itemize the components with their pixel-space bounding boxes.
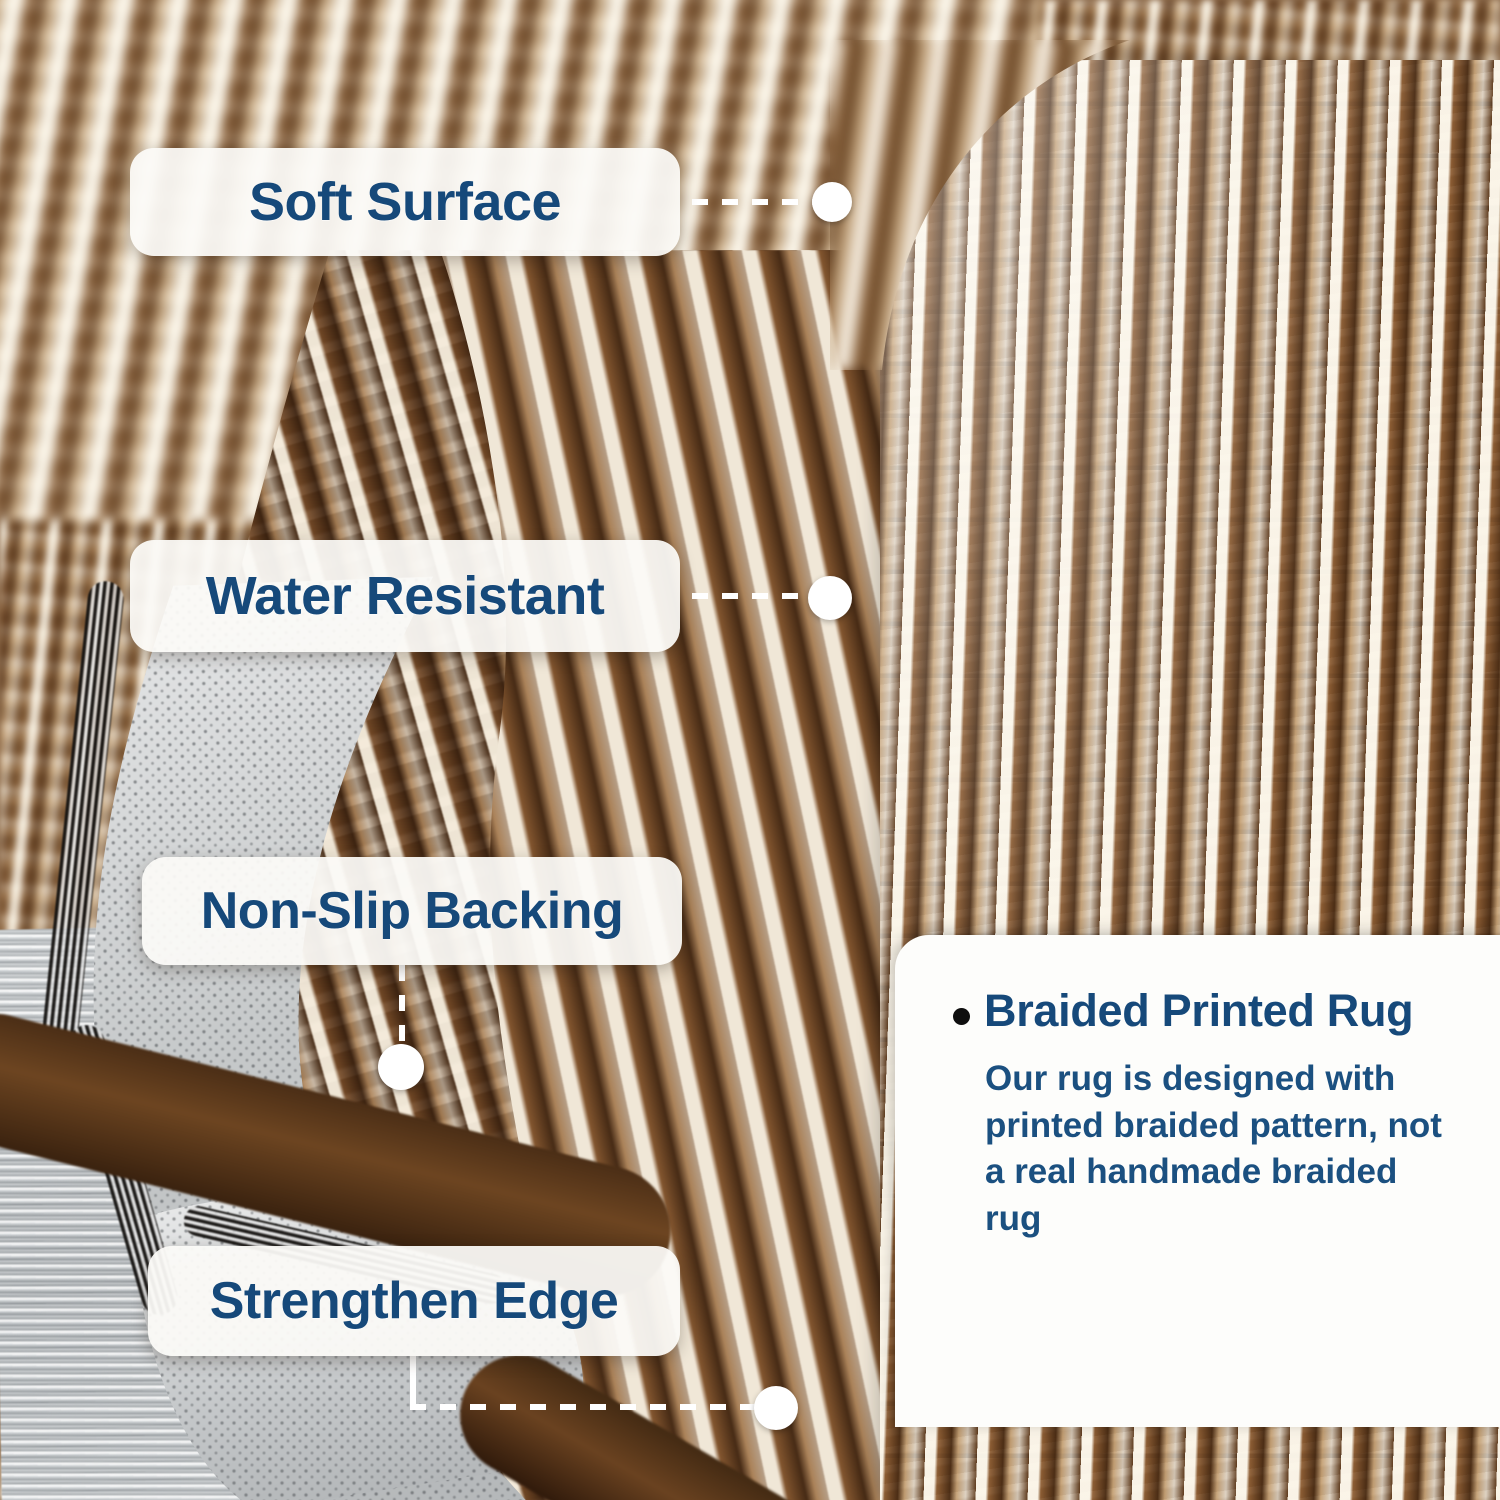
leader-line-water-resistant	[692, 593, 810, 599]
feature-label-water-resistant: Water Resistant	[130, 540, 680, 652]
leader-dot-water-resistant	[808, 576, 852, 620]
leader-dot-strengthen-edge	[754, 1386, 798, 1430]
feature-label-non-slip-backing: Non-Slip Backing	[142, 857, 682, 965]
leader-line-strengthen-edge-vertical	[410, 1356, 416, 1408]
leader-line-strengthen-edge-horizontal	[410, 1404, 758, 1410]
leader-dot-non-slip-backing	[378, 1044, 424, 1090]
callout-body-text: Our rug is designed with printed braided…	[985, 1056, 1445, 1242]
feature-label-strengthen-edge: Strengthen Edge	[148, 1246, 680, 1356]
callout-panel: Braided Printed Rug Our rug is designed …	[895, 935, 1500, 1427]
callout-content: Braided Printed Rug Our rug is designed …	[895, 935, 1500, 1242]
infographic-canvas: Soft Surface Water Resistant Non-Slip Ba…	[0, 0, 1500, 1500]
feature-label-soft-surface: Soft Surface	[130, 148, 680, 256]
leader-line-soft-surface	[692, 199, 814, 205]
leader-dot-soft-surface	[812, 182, 852, 222]
callout-title: Braided Printed Rug	[984, 987, 1413, 1034]
callout-title-row: Braided Printed Rug	[953, 987, 1470, 1034]
bullet-dot-icon	[953, 1008, 970, 1025]
